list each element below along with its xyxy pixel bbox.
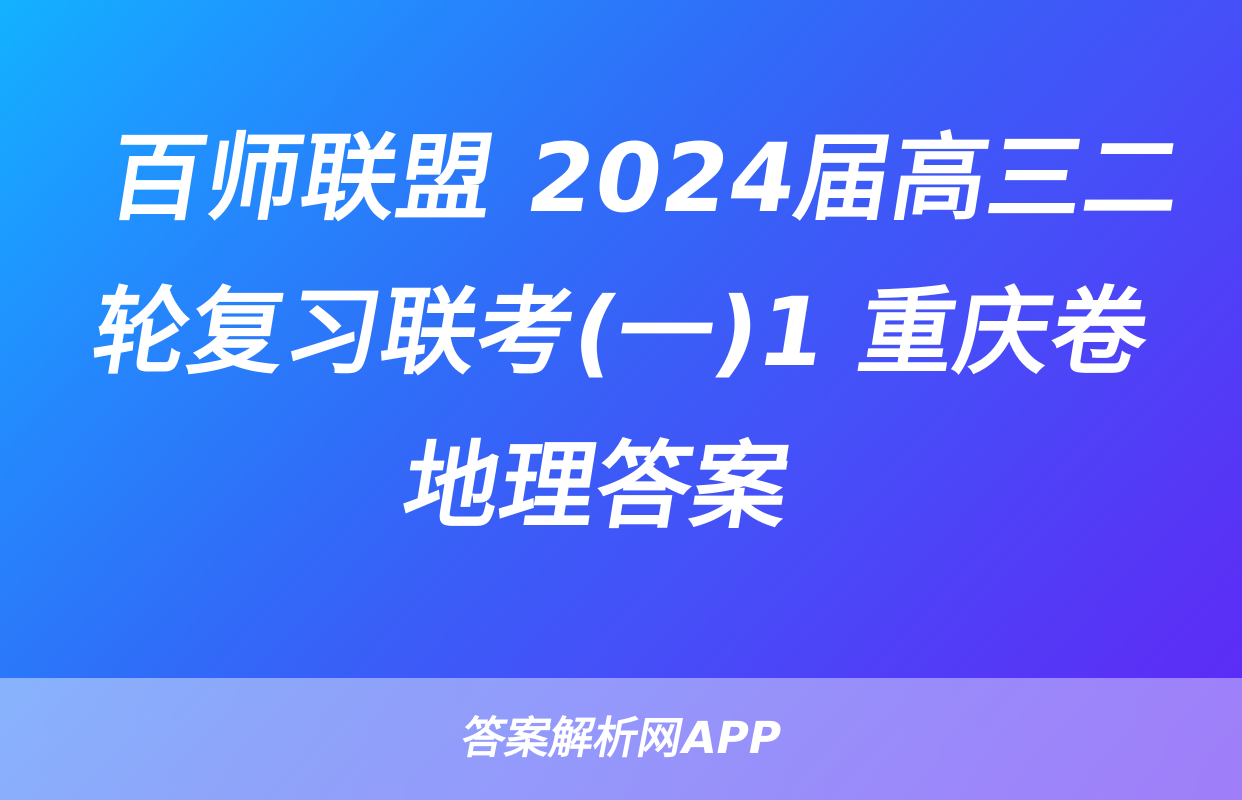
- poster-card: 百师联盟 2024届高三二轮复习联考(一)1 重庆卷地理答案 答案解析网APP: [0, 0, 1242, 800]
- page-title: 百师联盟 2024届高三二轮复习联考(一)1 重庆卷地理答案: [39, 103, 1202, 565]
- app-watermark-label: 答案解析网APP: [457, 717, 784, 761]
- hero-section: 百师联盟 2024届高三二轮复习联考(一)1 重庆卷地理答案: [0, 0, 1242, 678]
- app-watermark-banner: 答案解析网APP: [0, 678, 1242, 800]
